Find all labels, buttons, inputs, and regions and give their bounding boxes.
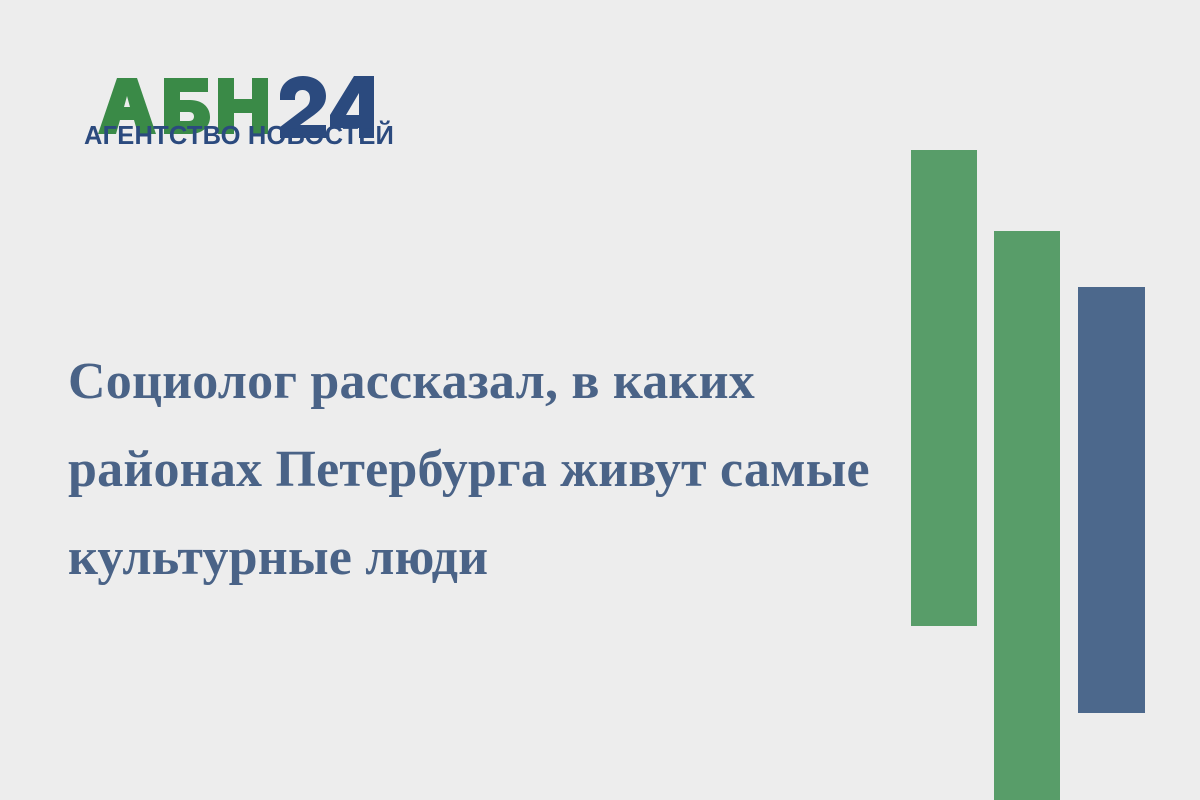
brand-logo[interactable]: АГЕНТСТВО НОВОСТЕЙ [84, 62, 374, 154]
chart-bar-1 [911, 150, 977, 626]
article-headline: Социолог рассказал, в каких районах Пете… [68, 338, 888, 602]
news-social-card: АГЕНТСТВО НОВОСТЕЙ Социолог рассказал, в… [0, 0, 1200, 800]
brand-tagline: АГЕНТСТВО НОВОСТЕЙ [84, 122, 374, 151]
chart-bar-3 [1078, 287, 1145, 713]
chart-bar-2 [994, 231, 1060, 800]
